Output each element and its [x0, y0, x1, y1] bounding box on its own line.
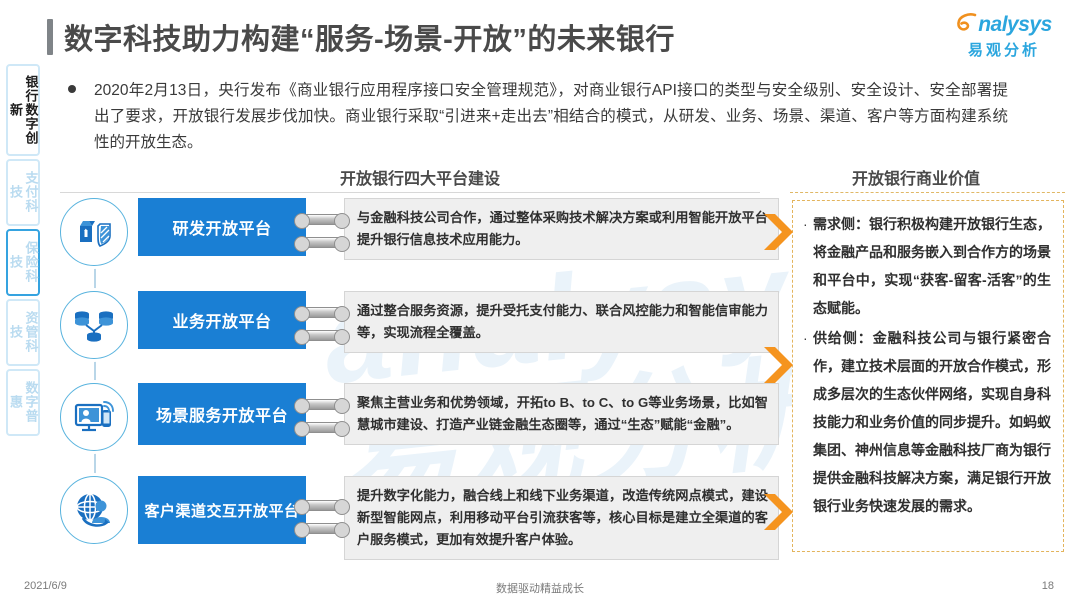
globe-user-icon: [60, 476, 128, 544]
chain-link-connector: [306, 394, 340, 440]
left-column-heading: 开放银行四大平台建设: [340, 165, 500, 189]
bullet-icon: ·: [803, 210, 813, 322]
platform-name-scenario[interactable]: 场景服务开放平台: [138, 383, 306, 445]
sidebar-item-payment-tech[interactable]: 支付科技: [6, 159, 40, 226]
platform-desc-channel: 提升数字化能力，融合线上和线下业务渠道，改造传统网点模式，建设新型智能网点，利用…: [344, 476, 779, 560]
right-column-rule: [790, 192, 1065, 193]
platform-name-business[interactable]: 业务开放平台: [138, 291, 306, 349]
sidebar-item-insurance-tech[interactable]: 保险科技: [6, 229, 40, 296]
sidebar-item-label: 资管科技: [8, 306, 39, 358]
platform-name-rd[interactable]: 研发开放平台: [138, 198, 306, 256]
analysys-logo: nalysys 易观分析: [944, 10, 1064, 60]
chain-link-connector: [306, 209, 340, 255]
chain-link-connector: [306, 495, 340, 541]
chevron-right-icon: [762, 212, 796, 257]
business-value-panel: · 需求侧：银行积极构建开放银行生态，将金融产品和服务嵌入到合作方的场景和平台中…: [792, 200, 1064, 552]
list-item: · 供给侧：金融科技公司与银行紧密合作，建立技术层面的开放合作模式，形成多层次的…: [803, 324, 1051, 520]
chevron-right-icon: [762, 345, 796, 390]
platform-row: 客户渠道交互开放平台 提升数字化能力，融合线上和线下业务渠道，改造传统网点模式，…: [60, 476, 779, 560]
platform-row: 场景服务开放平台 聚焦主营业务和优势领域，开拓to B、to C、to G等业务…: [60, 383, 779, 451]
footer: 2021/6/9 数据驱动精益成长 18: [0, 580, 1080, 598]
logo-wordmark: nalysys: [978, 14, 1052, 35]
logo-chinese-name: 易观分析: [944, 39, 1064, 60]
right-column-heading: 开放银行商业价值: [852, 165, 980, 189]
sidebar-item-label: 数字普惠: [8, 376, 39, 428]
list-item: · 需求侧：银行积极构建开放银行生态，将金融产品和服务嵌入到合作方的场景和平台中…: [803, 210, 1051, 322]
data-stack-icon: [60, 291, 128, 359]
business-value-supply-side: 供给侧：金融科技公司与银行紧密合作，建立技术层面的开放合作模式，形成多层次的生态…: [813, 324, 1051, 520]
platform-row: 业务开放平台 通过整合服务资源，提升受托支付能力、联合风控能力和智能信审能力等，…: [60, 291, 779, 359]
logo-swoosh-icon: [956, 12, 978, 36]
platform-name-channel[interactable]: 客户渠道交互开放平台: [138, 476, 306, 544]
sidebar-item-label: 保险科技: [8, 236, 39, 288]
chevron-right-icon: [762, 492, 796, 537]
chain-link-connector: [306, 302, 340, 348]
left-column-rule: [60, 192, 760, 193]
sidebar-item-asset-mgmt-tech[interactable]: 资管科技: [6, 299, 40, 366]
sidebar-tabs: 银行数字创新 支付科技 保险科技 资管科技 数字普惠: [6, 64, 40, 439]
sidebar-item-bank-digital-innovation[interactable]: 银行数字创新: [6, 64, 40, 156]
footer-page-number: 18: [1042, 580, 1054, 592]
screen-user-icon: [60, 383, 128, 451]
intro-text: 2020年2月13日，央行发布《商业银行应用程序接口安全管理规范》，对商业银行A…: [94, 78, 1008, 156]
intro-bullet-icon: [68, 78, 94, 156]
footer-slogan: 数据驱动精益成长: [0, 580, 1080, 596]
title-text: 数字科技助力构建“服务-场景-开放”的未来银行: [64, 16, 675, 58]
bullet-icon: ·: [803, 324, 813, 520]
platform-desc-business: 通过整合服务资源，提升受托支付能力、联合风控能力和智能信审能力等，实现流程全覆盖…: [344, 291, 779, 353]
title-accent-bar: [47, 19, 53, 55]
business-value-demand-side: 需求侧：银行积极构建开放银行生态，将金融产品和服务嵌入到合作方的场景和平台中，实…: [813, 210, 1051, 322]
platform-row: 研发开放平台 与金融科技公司合作，通过整体采购技术解决方案或利用智能开放平台提升…: [60, 198, 779, 266]
platform-desc-rd: 与金融科技公司合作，通过整体采购技术解决方案或利用智能开放平台提升银行信息技术应…: [344, 198, 779, 260]
sidebar-item-label: 支付科技: [8, 166, 39, 218]
page-title: 数字科技助力构建“服务-场景-开放”的未来银行: [47, 16, 675, 58]
sidebar-item-digital-inclusive[interactable]: 数字普惠: [6, 369, 40, 436]
platform-desc-scenario: 聚焦主营业务和优势领域，开拓to B、to C、to G等业务场景，比如智慧城市…: [344, 383, 779, 445]
sidebar-item-label: 银行数字创新: [8, 71, 39, 148]
package-shield-icon: [60, 198, 128, 266]
intro-paragraph: 2020年2月13日，央行发布《商业银行应用程序接口安全管理规范》，对商业银行A…: [68, 78, 1008, 156]
